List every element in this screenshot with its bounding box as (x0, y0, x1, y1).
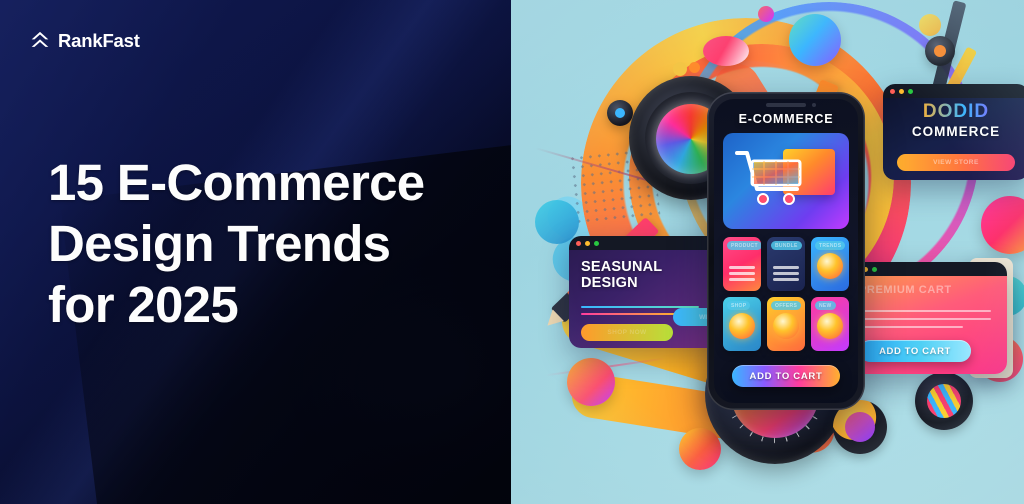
maximize-icon (872, 267, 877, 272)
divider (859, 318, 991, 320)
brand-name: RankFast (58, 32, 140, 51)
title-line-3: for 2025 (48, 274, 478, 335)
sphere-decoration (981, 196, 1024, 254)
card-body: PREMIUM CART ADD TO CART (847, 276, 1007, 374)
tile-label: NEW (815, 301, 836, 310)
product-tile[interactable]: BUNDLE (767, 237, 805, 291)
sphere-decoration (758, 6, 774, 22)
maximize-icon (908, 89, 913, 94)
badge-icon (925, 36, 955, 66)
card-titlebar (847, 262, 1007, 276)
sphere-decoration (535, 200, 579, 244)
product-tile[interactable]: OFFERS (767, 297, 805, 351)
page-title: 15 E-Commerce Design Trends for 2025 (48, 152, 478, 336)
sphere-decoration (689, 62, 700, 73)
tile-label: PRODUCT (727, 241, 761, 250)
phone-screen: E-COMMERCE (714, 99, 858, 403)
cart-card-heading: PREMIUM CART (859, 284, 952, 296)
badge-icon (915, 372, 973, 430)
sphere-decoration (703, 36, 749, 66)
commerce-view-store-button[interactable]: VIEW STORE (897, 154, 1015, 171)
close-icon (576, 241, 581, 246)
tile-label: OFFERS (771, 301, 801, 310)
shopping-cart-icon (733, 147, 811, 211)
tile-label: BUNDLE (771, 241, 802, 250)
tile-lines (773, 263, 799, 281)
seasonal-title: SEASUNAL DESIGN (581, 259, 662, 291)
phone-mockup: E-COMMERCE (707, 92, 865, 410)
commerce-button-label: VIEW STORE (933, 159, 979, 166)
card-titlebar (883, 84, 1024, 98)
tile-label: TRENDS (815, 241, 845, 250)
add-to-cart-card[interactable]: PREMIUM CART ADD TO CART (847, 262, 1007, 374)
title-line-1: 15 E-Commerce (48, 152, 478, 213)
phone-camera-icon (812, 103, 816, 107)
seasonal-shop-button[interactable]: SHOP NOW (581, 324, 673, 341)
minimize-icon (899, 89, 904, 94)
sphere-decoration (789, 14, 841, 66)
artwork-canvas: SEASUNAL DESIGN SHOP NOW WINTER (511, 0, 1024, 504)
phone-app-title: E-COMMERCE (714, 112, 858, 126)
seasonal-button-label: SHOP NOW (607, 329, 646, 336)
close-icon (890, 89, 895, 94)
divider (859, 326, 963, 328)
maximize-icon (594, 241, 599, 246)
tile-orb-icon (817, 253, 843, 279)
phone-speaker (766, 103, 806, 107)
blog-hero-banner: RankFast 15 E-Commerce Design Trends for… (0, 0, 1024, 504)
commerce-title: DODID (883, 102, 1024, 121)
phone-product-grid: PRODUCT BUNDLE TRENDS SHOP (723, 237, 849, 351)
minimize-icon (585, 241, 590, 246)
tile-lines (729, 263, 755, 281)
sphere-decoration (567, 358, 615, 406)
title-line-2: Design Trends (48, 213, 478, 274)
product-tile[interactable]: PRODUCT (723, 237, 761, 291)
divider (859, 310, 991, 312)
phone-hero-banner (723, 133, 849, 229)
brand-logo[interactable]: RankFast (30, 30, 140, 52)
sphere-decoration (679, 428, 721, 470)
product-tile[interactable]: NEW (811, 297, 849, 351)
seasonal-title-line-2: DESIGN (581, 275, 662, 291)
commerce-card[interactable]: DODID COMMERCE VIEW STORE (883, 84, 1024, 180)
product-tile[interactable]: TRENDS (811, 237, 849, 291)
left-title-panel: RankFast 15 E-Commerce Design Trends for… (0, 0, 511, 504)
product-tile[interactable]: SHOP (723, 297, 761, 351)
tile-orb-icon (817, 313, 843, 339)
hero-artwork-panel: SEASUNAL DESIGN SHOP NOW WINTER (511, 0, 1024, 504)
commerce-subtitle: COMMERCE (883, 124, 1024, 139)
tile-orb-icon (729, 313, 755, 339)
sphere-decoration (919, 14, 941, 36)
sphere-decoration (673, 62, 687, 76)
card-add-to-cart-label: ADD TO CART (879, 346, 951, 357)
double-chevron-up-icon (30, 30, 50, 52)
phone-add-to-cart-label: ADD TO CART (750, 371, 823, 382)
tile-orb-icon (773, 313, 799, 339)
seasonal-title-line-1: SEASUNAL (581, 259, 662, 275)
divider (581, 313, 677, 315)
tile-label: SHOP (727, 301, 750, 310)
badge-icon (607, 100, 633, 126)
card-add-to-cart-button[interactable]: ADD TO CART (859, 340, 971, 362)
phone-add-to-cart-button[interactable]: ADD TO CART (732, 365, 840, 387)
card-body: DODID COMMERCE VIEW STORE (883, 98, 1024, 180)
